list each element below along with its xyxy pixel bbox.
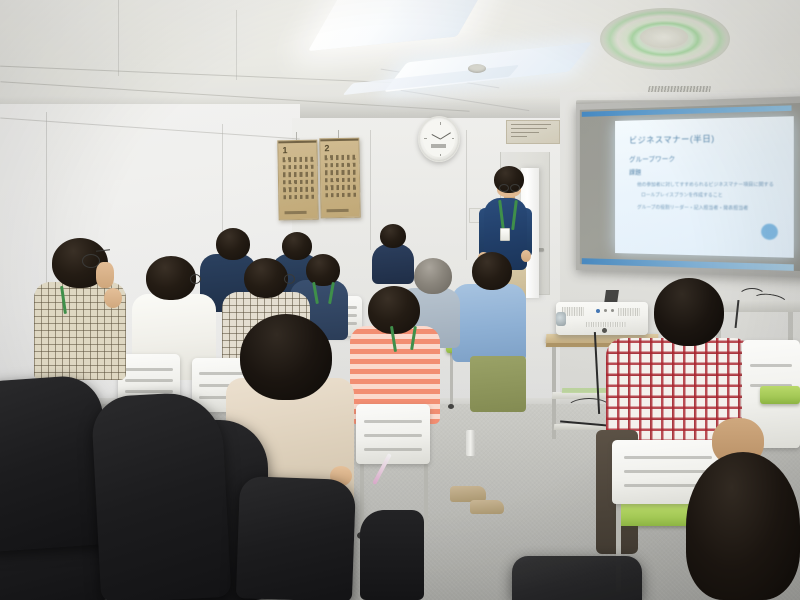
attendee-foreground-head — [686, 452, 800, 600]
attendee-face-profile — [96, 262, 114, 288]
slide-bottom-bar — [582, 258, 794, 271]
poster-text-rows — [283, 157, 315, 203]
presenter-glasses-icon — [499, 184, 509, 192]
presenter-glasses-icon — [510, 184, 520, 192]
attendee-trousers — [470, 356, 526, 412]
office-chair-seat[interactable] — [236, 476, 356, 600]
sandal — [470, 500, 504, 514]
attendee-glasses-icon — [284, 274, 295, 284]
attendee-head — [414, 258, 452, 294]
chair-foot — [448, 404, 454, 409]
slide-title: ビジネスマナー(半日) — [629, 133, 715, 146]
slide-top-bar — [582, 105, 792, 116]
poster-text-rows — [325, 155, 357, 201]
attendee-head — [380, 224, 406, 248]
poster-number: 1 — [282, 146, 287, 155]
poster-footer — [327, 209, 349, 212]
presentation-slide: ビジネスマナー(半日) グループワーク 課題 他の参加者に対してすすめられるビジ… — [615, 116, 794, 258]
clock-brand-mark — [431, 144, 446, 148]
projector-lens-icon — [556, 312, 566, 326]
presenter-id-badge — [500, 228, 510, 241]
screen-surface: ビジネスマナー(半日) グループワーク 課題 他の参加者に対してすすめられるビジ… — [580, 103, 800, 272]
attendee-head — [216, 228, 250, 260]
wall-seam — [370, 130, 371, 250]
poster-footer — [285, 211, 307, 214]
attendee-light-blue-shirt — [452, 284, 526, 362]
attendee-torso — [372, 244, 414, 284]
attendee-head — [146, 256, 196, 300]
water-bottle — [466, 430, 475, 456]
slide-bullet: ロールプレイスプランを作成すること — [641, 192, 723, 199]
wall-clock — [418, 116, 460, 162]
attendee-head — [244, 258, 288, 298]
projection-screen: ビジネスマナー(半日) グループワーク 課題 他の参加者に対してすすめられるビジ… — [576, 96, 800, 278]
stacking-chair[interactable] — [356, 404, 430, 464]
attendee-hand-on-chin — [104, 288, 122, 308]
chair-leg — [424, 464, 428, 532]
office-chair[interactable] — [91, 391, 232, 600]
poster-number: 2 — [324, 144, 329, 153]
attendee-head — [654, 278, 724, 346]
ceiling-seam — [118, 0, 119, 76]
attendee-head — [306, 254, 340, 286]
poster-hook — [296, 132, 297, 140]
slide-bullet: 他の参加者に対してすすめられるビジネスマナー項目に関する — [637, 182, 774, 189]
smoke-detector-icon — [468, 64, 486, 73]
blue-circle-decoration-icon — [761, 224, 778, 240]
attendee-head — [282, 232, 312, 260]
attendee-head — [240, 314, 332, 400]
presenter-hand — [521, 250, 531, 262]
slide-bullet: グループの役割リーダー・記入担当者・発表担当者 — [637, 204, 748, 212]
slide-section-heading: 課題 — [629, 167, 641, 176]
wall-seam — [466, 130, 467, 260]
wall-poster: 1 — [277, 140, 318, 221]
clock-face — [423, 121, 455, 157]
room-sign-plate — [506, 120, 560, 144]
circular-air-diffuser-core — [640, 26, 688, 48]
ceiling-seam — [236, 10, 237, 80]
wall-poster: 2 — [319, 138, 360, 219]
seminar-room-photo: 1 2 ビジネスマナー(半日) グループワーク — [0, 0, 800, 600]
attendee-glasses-icon — [190, 274, 201, 284]
office-chair-armrest[interactable] — [360, 510, 424, 600]
attendee-head — [472, 252, 512, 290]
chair-seat — [760, 386, 800, 404]
attendee-head — [368, 286, 420, 334]
office-chair[interactable] — [512, 556, 642, 600]
poster-hook — [338, 130, 339, 138]
slide-subtitle: グループワーク — [629, 153, 675, 164]
attendee-glasses-icon — [82, 254, 100, 268]
data-projector[interactable] — [556, 302, 648, 335]
